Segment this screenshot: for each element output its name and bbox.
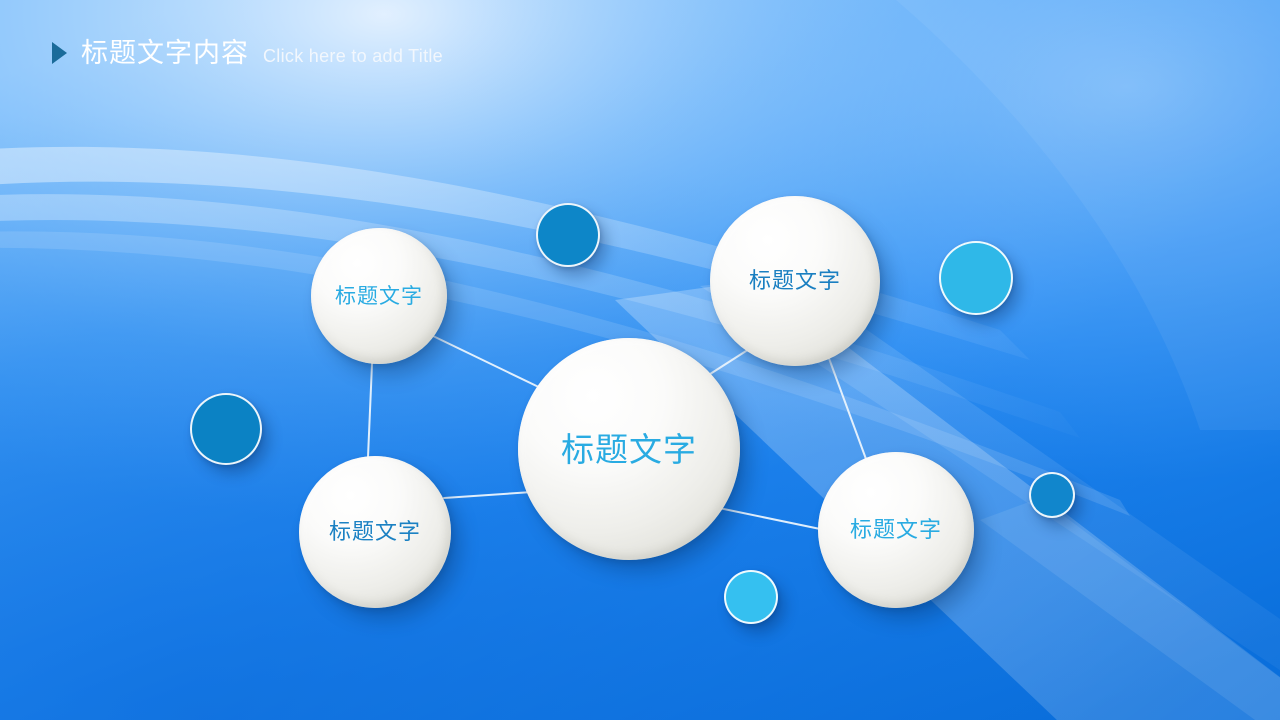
node-center[interactable]: 标题文字: [518, 338, 740, 560]
presentation-slide: 标题文字内容 Click here to add Title 标题文字 标题文字…: [0, 0, 1280, 720]
node-bottom-right-label: 标题文字: [850, 519, 942, 541]
accent-dot-b: [939, 241, 1013, 315]
connector-center-bottomright: [719, 508, 825, 530]
node-bottom-left-label: 标题文字: [329, 521, 421, 543]
connector-topleft-center: [433, 336, 549, 392]
accent-dot-d: [1029, 472, 1075, 518]
node-bottom-right[interactable]: 标题文字: [818, 452, 974, 608]
page-subtitle: Click here to add Title: [263, 47, 443, 65]
connector-topright-bottomright: [827, 353, 866, 459]
connector-bottomleft-center: [444, 492, 532, 498]
slide-header: 标题文字内容 Click here to add Title: [52, 40, 443, 67]
node-top-left[interactable]: 标题文字: [311, 228, 447, 364]
accent-dot-c: [190, 393, 262, 465]
page-title: 标题文字内容: [81, 40, 249, 67]
accent-dot-a: [536, 203, 600, 267]
connector-topleft-bottomleft: [368, 364, 372, 457]
node-top-left-label: 标题文字: [335, 286, 423, 307]
node-bottom-left[interactable]: 标题文字: [299, 456, 451, 608]
node-top-right[interactable]: 标题文字: [710, 196, 880, 366]
node-center-label: 标题文字: [561, 433, 697, 466]
triangle-right-icon: [52, 42, 67, 64]
accent-dot-e: [724, 570, 778, 624]
node-top-right-label: 标题文字: [749, 270, 841, 292]
